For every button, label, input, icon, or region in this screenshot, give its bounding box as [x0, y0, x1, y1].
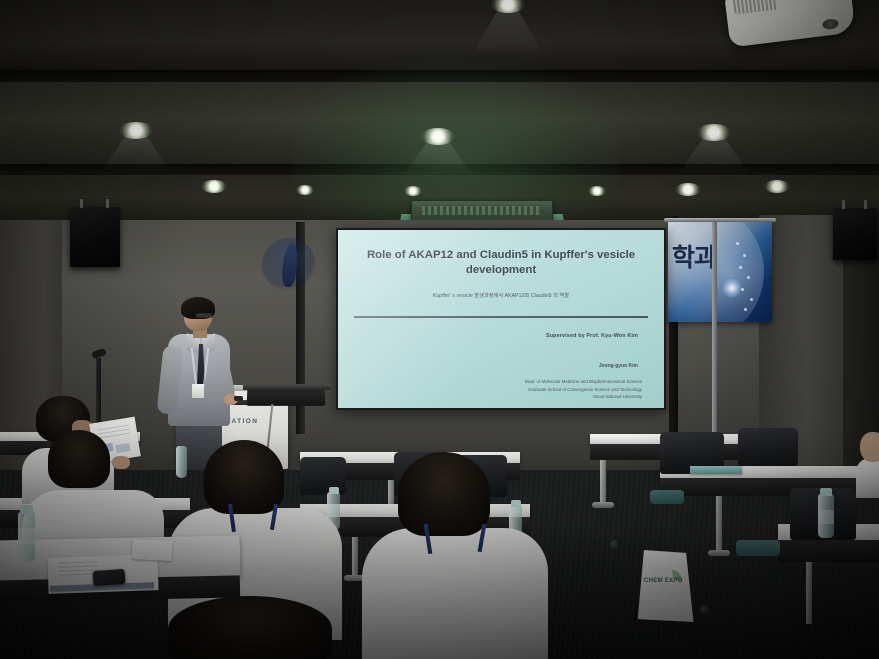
projector-lens — [822, 18, 839, 30]
chair — [738, 428, 798, 466]
audience-shirt — [362, 528, 548, 659]
ceiling-downlight-icon — [201, 180, 227, 193]
ceiling-downlight-icon — [764, 180, 790, 193]
speaker-bracket — [842, 200, 845, 209]
projector-vent — [733, 0, 779, 15]
desk-leg — [716, 496, 722, 552]
slide-affiliation-block: Dept. of Molecular Medicine and Biopharm… — [525, 378, 642, 401]
banner-support-pole — [712, 222, 717, 440]
affiliation-line-1: Dept. of Molecular Medicine and Biopharm… — [525, 378, 642, 386]
audience-hair — [398, 452, 490, 536]
projection-screen: Role of AKAP12 and Claudin5 in Kupffer's… — [336, 228, 666, 410]
slide-divider-rule — [354, 316, 648, 318]
desk-leg — [352, 537, 358, 577]
audience-hair — [48, 430, 110, 488]
affiliation-line-2: Graduate School of Convergence Science a… — [525, 386, 642, 394]
bottle-label — [18, 528, 35, 544]
audience-head — [860, 432, 879, 462]
presentation-clicker-icon — [234, 396, 243, 401]
tablet-device — [690, 466, 742, 474]
lecture-hall-photo: 학과 Role of AKAP12 and Claudin5 in Kupffe… — [0, 0, 879, 659]
chair-seat-cushion — [650, 490, 684, 504]
audience-member-foreground-head — [168, 596, 332, 659]
handout-paper-icon — [132, 539, 173, 561]
bottle-cap — [20, 505, 33, 514]
bag-brand-text: CHEM EXPO — [644, 578, 683, 584]
caster — [610, 540, 619, 549]
laptop-icon — [247, 388, 326, 406]
slide-surface: Role of AKAP12 and Claudin5 in Kupffer's… — [338, 230, 664, 408]
audience-hair — [204, 440, 284, 514]
bottle-cap — [820, 488, 832, 496]
audience-shirt — [856, 458, 879, 498]
caster — [700, 605, 709, 614]
ceiling-downlight-icon — [404, 186, 422, 196]
speaker-bracket — [80, 199, 83, 208]
desk-foot — [592, 502, 614, 508]
ceiling-downlight-icon — [675, 183, 701, 196]
plastic-shopping-bag — [634, 550, 696, 622]
presenter-glasses — [196, 313, 212, 318]
slide-subtitle-korean: Kupffer' s vesicle 발생과정에서 AKAP12와 Claudi… — [358, 292, 644, 299]
audience-member-far-right — [856, 432, 879, 492]
affiliation-line-3: Seoul National University — [525, 393, 642, 401]
ceiling-soffit-lower — [0, 164, 879, 175]
banner-dot-pattern — [730, 236, 760, 316]
chair-seat-cushion — [736, 540, 780, 556]
smartphone-icon — [93, 569, 126, 586]
speaker-bracket — [106, 199, 109, 208]
desk-foot — [708, 550, 730, 556]
speaker-bracket — [864, 200, 867, 209]
speaker-icon — [833, 208, 877, 260]
audience-member-right — [362, 452, 552, 659]
desk-leg — [600, 460, 606, 504]
ceiling-downlight-icon — [421, 128, 455, 145]
lanyard-badge-icon — [192, 384, 204, 398]
ceiling-downlight-icon — [119, 122, 153, 139]
ceiling-downlight-icon — [588, 186, 606, 196]
ceiling-downlight-icon — [296, 185, 314, 195]
desk-apron — [778, 540, 879, 562]
speaker-icon — [70, 207, 120, 267]
bottle-label — [818, 510, 834, 524]
slide-presenter-name: Jeong-gyun Kim — [599, 363, 638, 369]
ceiling-downlight-icon — [697, 124, 731, 141]
desk-leg — [806, 562, 812, 624]
slide-title: Role of AKAP12 and Claudin5 in Kupffer's… — [348, 248, 654, 279]
ceiling-soffit-upper — [0, 70, 879, 82]
slide-supervisor-line: Supervised by Prof. Kyu-Won Kim — [546, 333, 638, 339]
hanging-banner: 학과 — [668, 222, 772, 322]
banner-text: 학과 — [672, 238, 716, 274]
